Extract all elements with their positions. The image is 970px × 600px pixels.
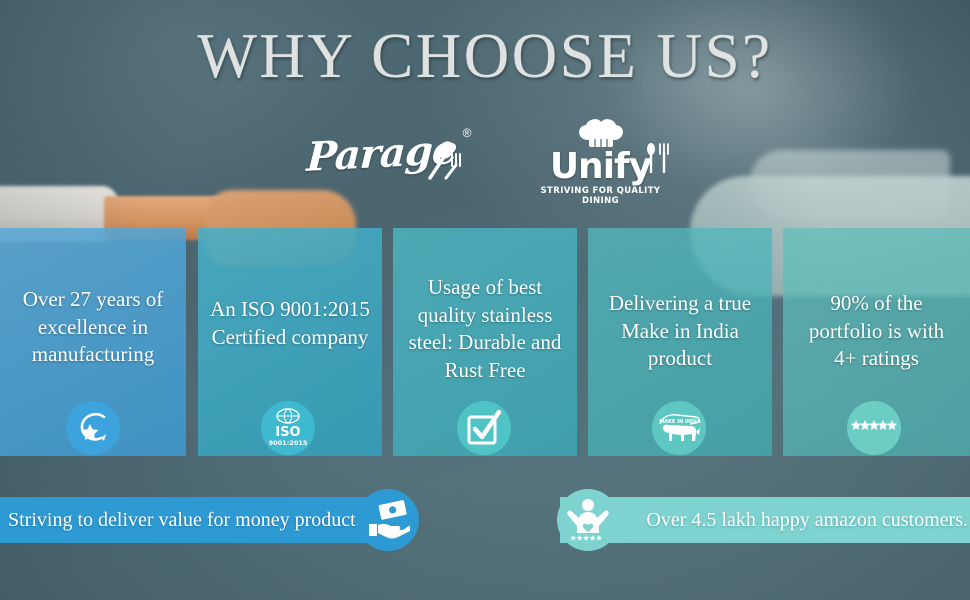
panel-line: An ISO 9001:2015 (210, 296, 370, 324)
panel-iso-certified-text: An ISO 9001:2015 Certified company (202, 274, 378, 351)
page-title: WHY CHOOSE US? (0, 22, 970, 91)
panel-line: manufacturing (23, 341, 164, 369)
iso-badge-label: ISO (275, 425, 300, 440)
panel-line: portfolio is with (809, 318, 944, 346)
unify-cutlery-icon (644, 142, 670, 176)
spoon-fork-icon (416, 138, 462, 184)
badge-iso: ISO 9001:2015 (261, 401, 315, 455)
star-swoosh-icon (73, 408, 113, 448)
happy-customers-icon-circle (557, 489, 619, 551)
panel-ratings-text: 90% of the portfolio is with 4+ ratings (801, 274, 952, 373)
value-for-money-icon-circle (357, 489, 419, 551)
happy-customer-icon (565, 497, 611, 543)
panel-line: Certified company (210, 324, 370, 352)
logo-row: Parage ® Unify STRIVING FOR QU (0, 118, 970, 198)
why-choose-us-banner: WHY CHOOSE US? Parage ® Unify (0, 0, 970, 600)
panel-line: Over 27 years of (23, 286, 164, 314)
panel-make-in-india-text: Delivering a true Make in India product (601, 274, 759, 373)
panel-line: product (609, 345, 751, 373)
panel-line: Usage of best (409, 274, 562, 302)
badge-experience (66, 401, 120, 455)
make-in-india-lion-icon: MAKE IN INDIA (656, 408, 702, 448)
panel-line: Rust Free (409, 357, 562, 385)
parage-registered-mark: ® (463, 126, 472, 140)
unify-logo: Unify STRIVING FOR QUALITY DINING (526, 118, 676, 198)
panel-line: quality stainless (409, 302, 562, 330)
badge-quality-check (457, 401, 511, 455)
panel-line: Make in India (609, 318, 751, 346)
badge-five-stars (847, 401, 901, 455)
panel-line: 90% of the (809, 290, 944, 318)
panel-line: Delivering a true (609, 290, 751, 318)
unify-tagline: STRIVING FOR QUALITY DINING (526, 186, 676, 206)
badge-make-in-india: MAKE IN INDIA (652, 401, 706, 455)
five-stars-icon (851, 418, 897, 438)
panel-stainless-steel-text: Usage of best quality stainless steel: D… (401, 274, 570, 385)
checkbox-check-icon (466, 410, 502, 446)
iso-globe-icon: ISO 9001:2015 (265, 405, 311, 451)
value-for-money-text: Striving to deliver value for money prod… (8, 510, 361, 530)
make-in-india-label: MAKE IN INDIA (659, 419, 701, 425)
panel-experience-text: Over 27 years of excellence in manufactu… (15, 274, 172, 369)
happy-customers-text: Over 4.5 lakh happy amazon customers. (646, 510, 968, 530)
panel-line: 4+ ratings (809, 345, 944, 373)
happy-customers-bar: Over 4.5 lakh happy amazon customers. (560, 497, 970, 543)
value-for-money-bar: Striving to deliver value for money prod… (0, 497, 404, 543)
iso-badge-sublabel: 9001:2015 (269, 439, 308, 447)
parage-logo: Parage ® (295, 118, 480, 194)
panel-line: steel: Durable and (409, 329, 562, 357)
panel-line: excellence in (23, 314, 164, 342)
hand-holding-money-icon (366, 498, 410, 542)
